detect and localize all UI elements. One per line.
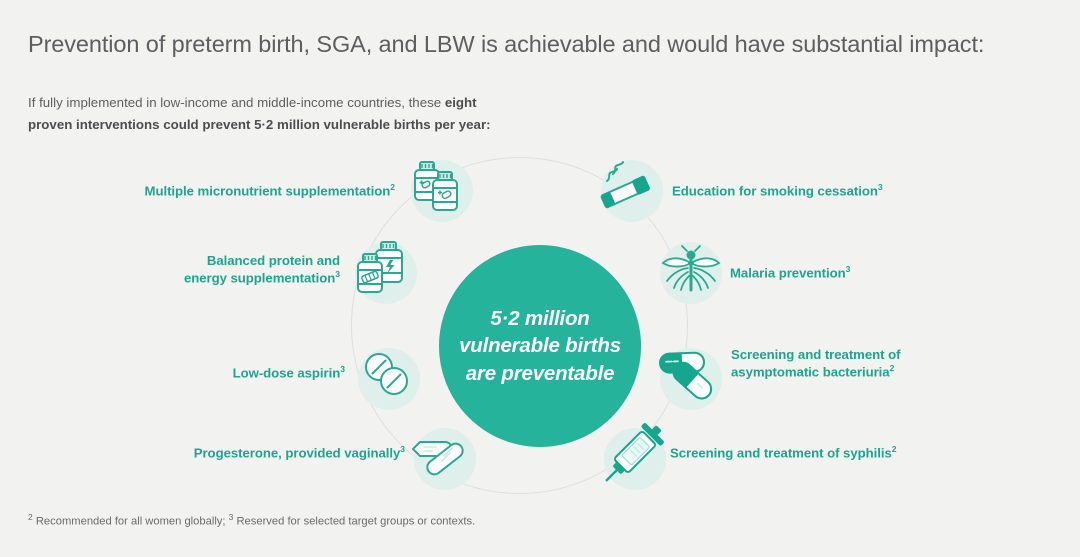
label-malaria-prevention: Malaria prevention3: [730, 264, 1010, 282]
page-subtitle: If fully implemented in low-income and m…: [28, 92, 668, 136]
footnote-text-a: Recommended for all women globally;: [33, 516, 229, 528]
footnote: 2 Recommended for all women globally; 3 …: [28, 512, 475, 529]
label-screening-treatment-syphilis: Screening and treatment of syphilis2: [670, 444, 1020, 462]
footnote-marker: 3: [878, 182, 883, 192]
footnote-marker: 3: [335, 269, 340, 279]
subtitle-text-bold-eight: eight: [445, 95, 477, 110]
center-line-3: are preventable: [466, 362, 615, 385]
tablets-icon: [346, 336, 432, 422]
label-text-line1: Screening and treatment of: [731, 347, 900, 362]
subtitle-text-bold-line2: proven interventions could prevent 5·2 m…: [28, 117, 491, 132]
footnote-marker: 3: [340, 364, 345, 374]
syringe-icon: [592, 416, 678, 502]
label-text-line1: Balanced protein and: [207, 253, 340, 268]
label-text: Low-dose aspirin: [233, 365, 341, 380]
center-circle-text: 5·2 million vulnerable births are preven…: [449, 305, 631, 386]
label-text: Malaria prevention: [730, 265, 846, 280]
cigarette-icon: [589, 148, 675, 234]
center-line-2: vulnerable births: [459, 334, 621, 357]
page-title: Prevention of preterm birth, SGA, and LB…: [28, 30, 1038, 58]
circle-diagram: 5·2 million vulnerable births are preven…: [0, 146, 1080, 506]
mosquito-icon: [648, 230, 734, 316]
label-education-for-smoking-cessation: Education for smoking cessation3: [672, 182, 1002, 200]
label-balanced-protein-energy-supplementation: Balanced protein and energy supplementat…: [60, 252, 340, 287]
label-text: Screening and treatment of syphilis: [670, 445, 892, 460]
footnote-marker: 3: [400, 444, 405, 454]
footnote-marker: 2: [890, 363, 895, 373]
subtitle-text-plain: If fully implemented in low-income and m…: [28, 95, 445, 110]
pessary-icon: [402, 416, 488, 502]
label-text: Multiple micronutrient supplementation: [145, 183, 391, 198]
label-text-line2: energy supplementation: [184, 271, 335, 286]
label-screening-treatment-asymptomatic-bacteriuria: Screening and treatment of asymptomatic …: [731, 346, 1021, 381]
label-multiple-micronutrient-supplementation: Multiple micronutrient supplementation2: [60, 182, 395, 200]
label-low-dose-aspirin: Low-dose aspirin3: [60, 364, 345, 382]
capsules-icon: [648, 336, 734, 422]
supplement-bottles-icon: [399, 148, 485, 234]
label-text: Progesterone, provided vaginally: [194, 445, 401, 460]
footnote-marker: 2: [892, 444, 897, 454]
infographic-root: Prevention of preterm birth, SGA, and LB…: [0, 0, 1080, 557]
footnote-text-b: Reserved for selected target groups or c…: [233, 516, 475, 528]
label-progesterone-provided-vaginally: Progesterone, provided vaginally3: [30, 444, 405, 462]
protein-jars-icon: [343, 230, 429, 316]
label-text: Education for smoking cessation: [672, 183, 878, 198]
label-text-line2: asymptomatic bacteriuria: [731, 365, 890, 380]
footnote-marker: 3: [846, 264, 851, 274]
footnote-marker: 2: [390, 182, 395, 192]
center-line-1: 5·2 million: [490, 307, 589, 330]
